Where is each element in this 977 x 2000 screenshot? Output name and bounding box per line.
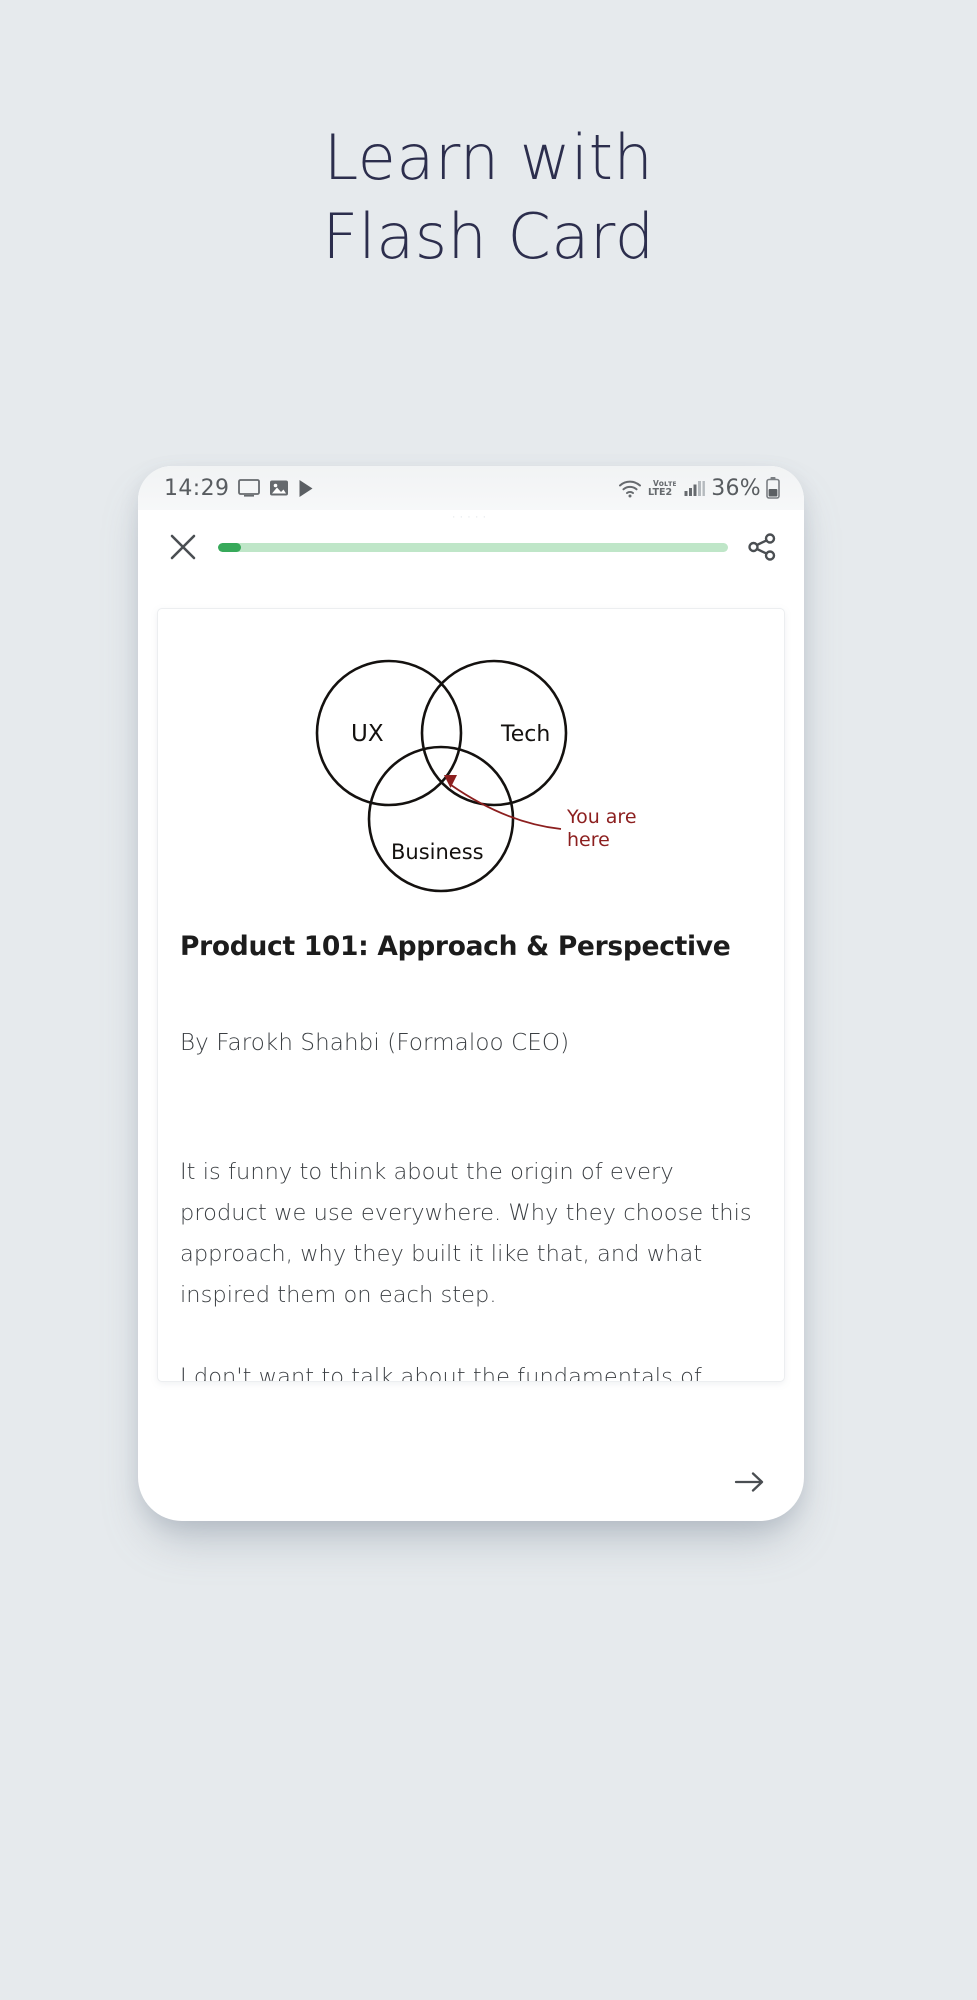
cast-screen-icon	[238, 479, 260, 497]
volte-lte-icon: Vᴏʟᴛᴇ LTE2	[647, 478, 679, 498]
play-store-icon	[298, 479, 314, 498]
venn-label-business: Business	[391, 840, 484, 864]
image-icon	[269, 479, 289, 497]
share-icon[interactable]	[746, 531, 778, 563]
page-title-line-1: Learn with	[0, 118, 977, 197]
flashcard-paragraph: I don't want to talk about the fundament…	[180, 1357, 762, 1382]
venn-label-ux: UX	[351, 721, 384, 747]
wifi-icon	[618, 479, 642, 498]
svg-text:LTE2: LTE2	[648, 487, 672, 498]
phone-mockup: 14:29	[138, 466, 804, 1521]
venn-label-tech: Tech	[500, 722, 550, 747]
flashcard[interactable]: UX Tech Business You are here Product 10…	[157, 608, 785, 1382]
page-title: Learn with Flash Card	[0, 118, 977, 277]
status-bar-right: Vᴏʟᴛᴇ LTE2 36%	[618, 476, 780, 501]
venn-annotation-line-2: here	[567, 829, 610, 851]
close-icon[interactable]	[166, 530, 200, 564]
flashcard-byline: By Farokh Shahbi (Formaloo CEO)	[180, 1030, 762, 1056]
flashcard-title: Product 101: Approach & Perspective	[180, 931, 762, 962]
flashcard-body: It is funny to think about the origin of…	[180, 1152, 762, 1382]
battery-percent-label: 36%	[711, 476, 761, 501]
status-bar-left: 14:29	[164, 476, 314, 501]
signal-bars-icon	[684, 479, 706, 497]
venn-annotation-line-1: You are	[566, 806, 637, 828]
venn-diagram-illustration: UX Tech Business You are here	[180, 609, 762, 909]
status-bar-clock: 14:29	[164, 476, 229, 501]
flashcard-paragraph: It is funny to think about the origin of…	[180, 1152, 762, 1316]
next-arrow-icon[interactable]	[730, 1467, 770, 1497]
speaker-grille: ·····	[138, 512, 804, 523]
venn-diagram-svg: UX Tech Business You are here	[261, 623, 681, 903]
lesson-progress-fill	[218, 543, 241, 552]
battery-icon	[766, 477, 780, 499]
status-bar: 14:29	[138, 466, 804, 510]
lesson-progress-bar[interactable]	[218, 543, 728, 552]
page-title-line-2: Flash Card	[0, 197, 977, 276]
